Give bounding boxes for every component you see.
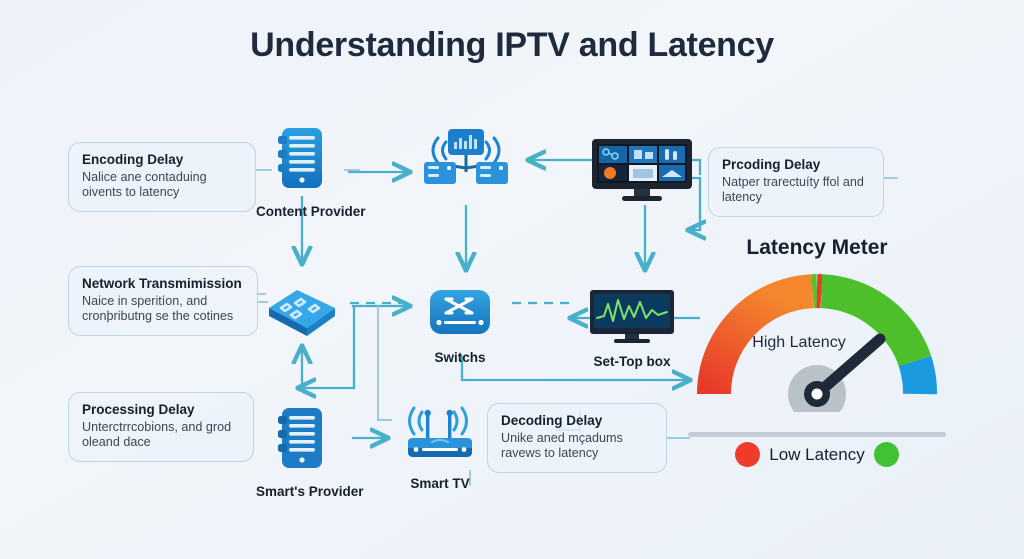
node-smart-tv: Smart TV: [392, 404, 488, 492]
node-content-provider: Content Provider: [256, 126, 348, 220]
network-switch-icon: [426, 286, 494, 340]
node-set-top-box-label: Set-Top box: [576, 354, 688, 370]
server-rack-icon: [274, 406, 330, 474]
node-smart-tv-label: Smart TV: [392, 476, 488, 492]
page-title: Understanding IPTV and Latency: [0, 26, 1024, 65]
node-switches: Switchs: [410, 286, 510, 366]
card-network-body: Naice in speritíon, and cronþributng se …: [82, 294, 244, 325]
legend-low-dot: [735, 442, 760, 467]
card-encoding-heading: Encoding Delay: [82, 152, 242, 168]
card-precoding-delay: Prcoding Delay Natper trarectuíty ffol a…: [708, 147, 884, 217]
card-decoding-body: Unike aned mçadums ravews to latency: [501, 431, 653, 462]
node-content-provider-label: Content Provider: [256, 204, 348, 220]
node-switches-label: Switchs: [410, 350, 510, 366]
card-network-heading: Network Transmimission: [82, 276, 244, 292]
card-processing-heading: Processing Delay: [82, 402, 240, 418]
node-smart-provider: Smart's Provider: [256, 406, 348, 500]
broadcast-hub-icon: [414, 124, 518, 196]
card-network-transmission: Network Transmimission Naice in speritío…: [68, 266, 258, 336]
legend-label: Low Latency: [769, 445, 864, 465]
high-latency-label: High Latency: [734, 334, 864, 352]
latency-meter-title: Latency Meter: [694, 236, 940, 260]
latency-meter: Latency Meter High Latency Low Latency: [694, 236, 940, 466]
card-decoding-heading: Decoding Delay: [501, 413, 653, 429]
dashboard-monitor-icon: [588, 137, 696, 203]
infographic-canvas: Understanding IPTV and Latency: [0, 0, 1024, 559]
card-encoding-delay: Encoding Delay Nalice ane contaduing oiv…: [68, 142, 256, 212]
gauge-baseline: [688, 432, 946, 437]
server-rack-icon: [274, 126, 330, 194]
wifi-router-icon: [392, 404, 488, 466]
node-network-hub: [414, 124, 518, 206]
card-processing-body: Unterctrrcobions, and grod oleand dace: [82, 420, 240, 451]
card-precoding-heading: Prcoding Delay: [722, 157, 870, 173]
node-smart-provider-label: Smart's Provider: [256, 484, 348, 500]
isometric-modem-icon: [263, 284, 341, 340]
card-encoding-body: Nalice ane contaduing oivents to latency: [82, 170, 242, 201]
card-decoding-delay: Decoding Delay Unike aned mçadums ravews…: [487, 403, 667, 473]
node-modem: [258, 284, 346, 350]
card-precoding-body: Natper trarectuíty ffol and latency: [722, 175, 870, 206]
legend-high-dot: [874, 442, 899, 467]
node-set-top-box: Set-Top box: [576, 288, 688, 370]
latency-legend: Low Latency: [694, 442, 940, 467]
node-dashboard-monitor: [588, 137, 696, 213]
card-processing-delay: Processing Delay Unterctrrcobions, and g…: [68, 392, 254, 462]
waveform-monitor-icon: [588, 288, 676, 344]
